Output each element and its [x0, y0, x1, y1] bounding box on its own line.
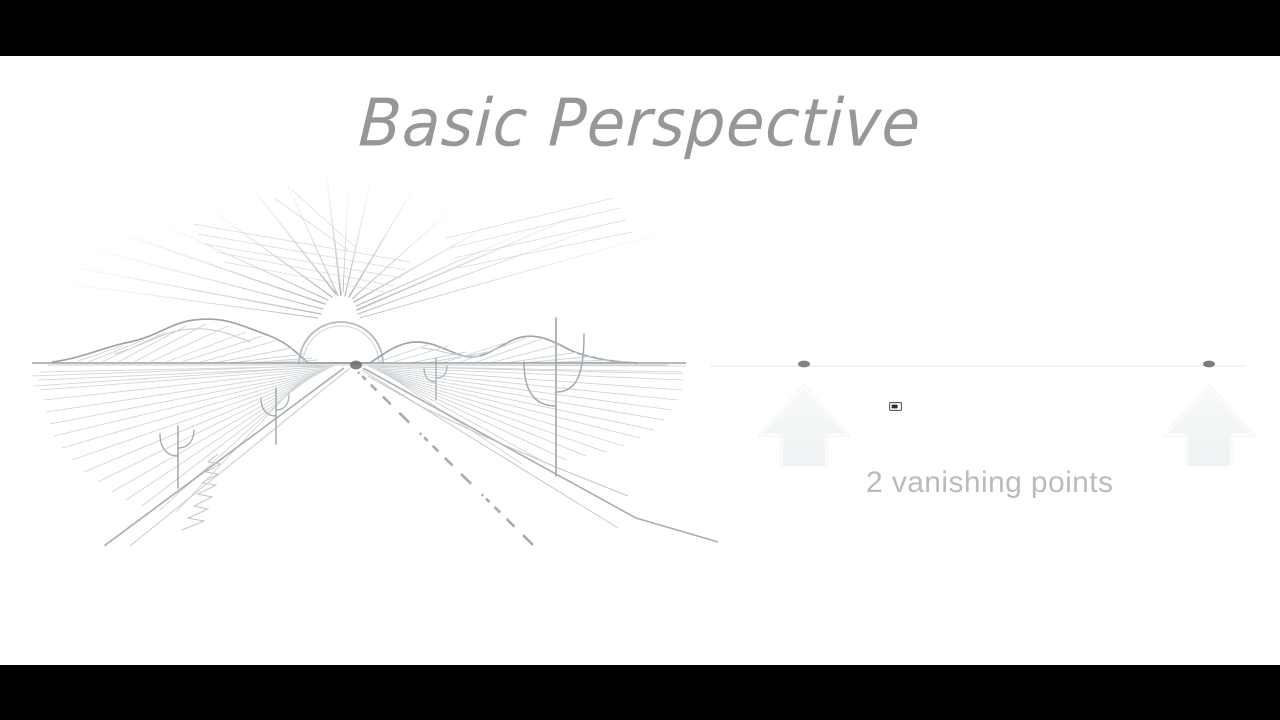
arrow-up-left: [758, 384, 850, 466]
arrow-up-right: [1163, 384, 1255, 466]
sun-ray-hatching: [193, 190, 632, 292]
road-dashed-centerline: [358, 372, 534, 546]
one-point-perspective-sketch: [18, 176, 718, 546]
vanishing-point-dot: [350, 361, 362, 370]
mountain-hatching: [78, 324, 624, 363]
video-frame: Basic Perspective: [0, 0, 1280, 720]
vanishing-points-caption: 2 vanishing points: [866, 466, 1113, 500]
pointer-marker-icon: [889, 402, 902, 411]
two-point-perspective-diagram: [690, 236, 1270, 466]
vanishing-point-left: [798, 361, 810, 368]
ground-hatching-right: [368, 365, 686, 464]
ground-hatching-left: [32, 365, 336, 512]
page-title: Basic Perspective: [0, 87, 1280, 159]
slide-canvas: Basic Perspective: [0, 56, 1280, 665]
vanishing-point-right: [1203, 361, 1215, 368]
road-shoulder-scribble: [182, 376, 628, 530]
letterbox-top: [0, 0, 1280, 56]
sun-rays-group: [70, 178, 658, 318]
letterbox-bottom: [0, 665, 1280, 720]
